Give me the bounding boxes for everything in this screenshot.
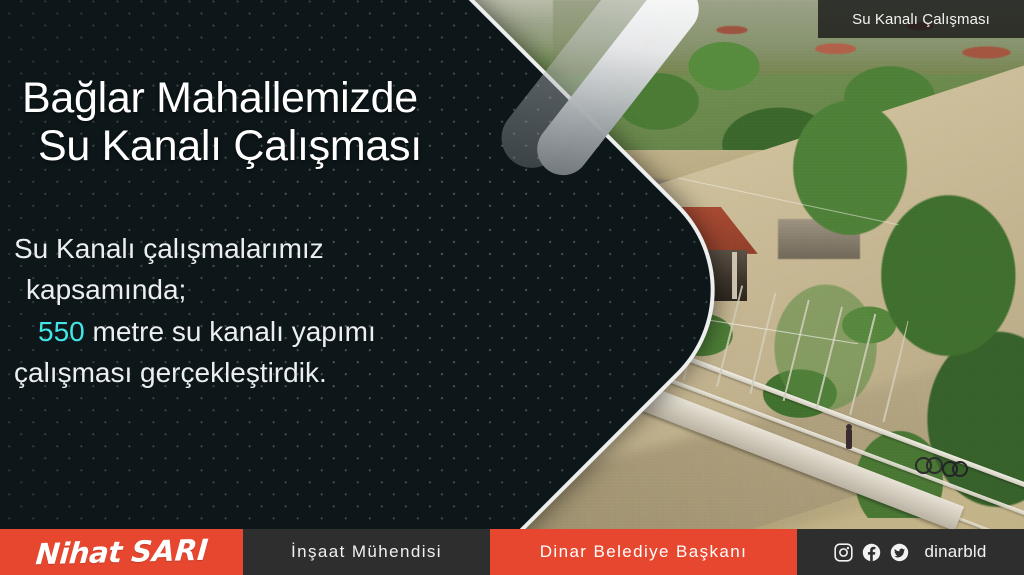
facebook-icon[interactable]	[862, 543, 881, 562]
signature-last-name: SARI	[130, 533, 209, 569]
footer-position-segment: Dinar Belediye Başkanı	[490, 529, 797, 575]
body-line-3-rest: metre su kanalı yapımı	[85, 316, 376, 347]
twitter-icon[interactable]	[890, 543, 909, 562]
footer-role-segment: İnşaat Mühendisi	[243, 529, 490, 575]
body-line-3: 550 metre su kanalı yapımı	[14, 311, 484, 352]
status-badge: Su Kanalı Çalışması	[818, 0, 1024, 38]
title-line-1: Bağlar Mahallemizde	[22, 74, 418, 122]
instagram-icon[interactable]	[834, 543, 853, 562]
social-handle[interactable]: dinarbld	[924, 542, 986, 562]
body-line-2: kapsamında;	[14, 269, 484, 310]
signature-first-name: Nihat	[34, 535, 123, 571]
footer-bar: Nihat SARI İnşaat Mühendisi Dinar Beledi…	[0, 529, 1024, 575]
title-line-2: Su Kanalı Çalışması	[38, 122, 562, 170]
signature-logo: Nihat SARI	[34, 533, 209, 571]
footer-role-label: İnşaat Mühendisi	[291, 542, 442, 562]
metre-value: 550	[38, 316, 85, 347]
page-title: Bağlar Mahallemizde Su Kanalı Çalışması	[22, 74, 562, 170]
body-line-4: çalışması gerçekleştirdik.	[14, 352, 484, 393]
status-badge-label: Su Kanalı Çalışması	[852, 11, 990, 28]
footer-social-segment: dinarbld	[797, 529, 1024, 575]
poster-canvas: Bağlar Mahallemizde Su Kanalı Çalışması …	[0, 0, 1024, 575]
body-line-1: Su Kanalı çalışmalarımız	[14, 228, 484, 269]
footer-signature-segment: Nihat SARI	[0, 529, 243, 575]
panel-content: Bağlar Mahallemizde Su Kanalı Çalışması …	[0, 0, 1024, 575]
footer-position-label: Dinar Belediye Başkanı	[540, 542, 748, 562]
body-paragraph: Su Kanalı çalışmalarımız kapsamında; 550…	[14, 228, 484, 394]
